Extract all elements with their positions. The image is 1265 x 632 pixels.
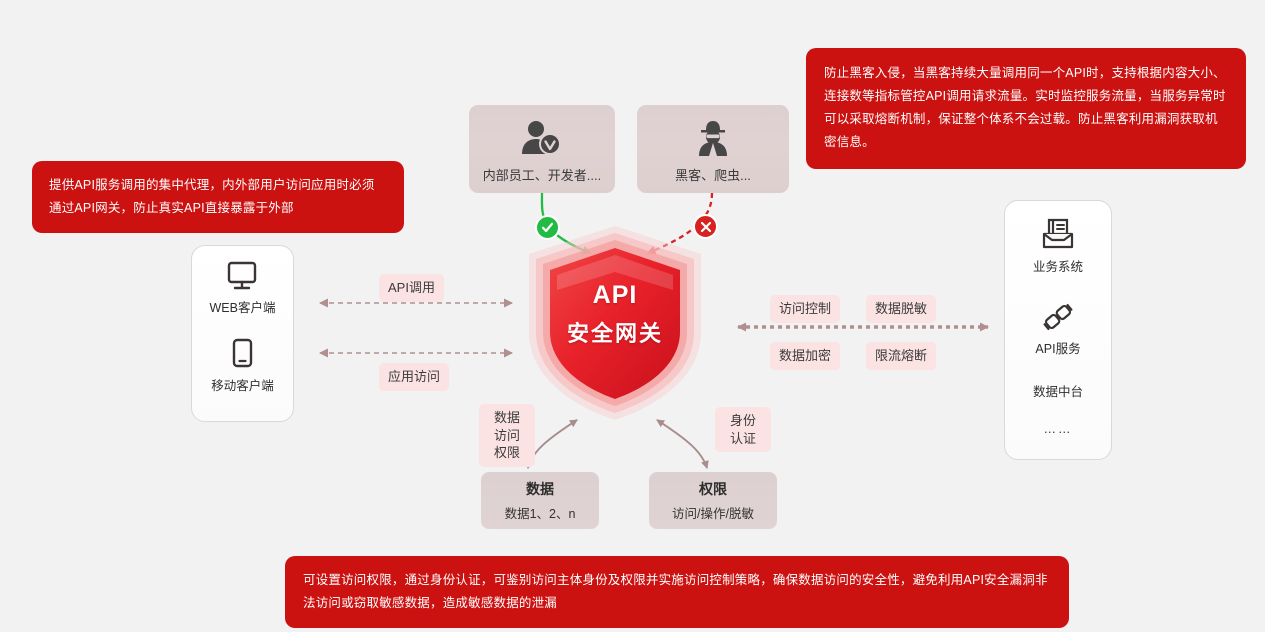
node-permission-title: 权限 [699,479,727,499]
tag-data-access-permission: 数据访问权限 [479,404,535,467]
callout-right: 防止黑客入侵，当黑客持续大量调用同一个API时，支持根据内容大小、连接数等指标管… [806,48,1246,169]
tag-access-control: 访问控制 [770,295,840,323]
tag-identity-authentication: 身份认证 [715,407,771,452]
mobile-phone-icon [227,338,257,370]
callout-right-text: 防止黑客入侵，当黑客持续大量调用同一个API时，支持根据内容大小、连接数等指标管… [824,62,1228,155]
node-data-sub: 数据1、2、n [505,503,576,522]
node-data[interactable]: 数据 数据1、2、n [481,472,599,529]
client-panel: WEB客户端 移动客户端 [191,245,294,422]
backend-panel: 业务系统 API服务 数据中台 …… [1004,200,1112,460]
backend-item-api[interactable]: API服务 [1035,301,1080,357]
client-label-web: WEB客户端 [210,297,276,316]
tag-data-desensitization: 数据脱敏 [866,295,936,323]
actor-card-internal[interactable]: 内部员工、开发者.... [469,105,615,193]
actor-card-hacker[interactable]: 黑客、爬虫... [637,105,789,193]
tag-rate-limit-circuit-breaker: 限流熔断 [866,342,936,370]
tag-api-call: API调用 [379,274,444,302]
hacker-icon [690,118,736,158]
backend-label-api: API服务 [1035,338,1080,357]
api-connector-icon [1040,301,1076,333]
backend-extra-midplatform: 数据中台 [1033,381,1083,400]
actor-label-hacker: 黑客、爬虫... [675,165,751,184]
tag-data-encryption: 数据加密 [770,342,840,370]
backend-item-business[interactable]: 业务系统 [1033,217,1083,275]
api-security-gateway-diagram: 提供API服务调用的集中代理，内外部用户访问应用时必须通过API网关，防止真实A… [0,0,1265,632]
node-permission[interactable]: 权限 访问/操作/脱敏 [649,472,777,529]
link-shield-permission [657,420,707,468]
user-verified-icon [519,118,565,158]
callout-bottom: 可设置访问权限，通过身份认证，可鉴别访问主体身份及权限并实施访问控制策略，确保数… [285,556,1069,628]
backend-extra-ellipsis: …… [1044,422,1073,436]
business-system-icon [1040,217,1076,251]
client-label-mobile: 移动客户端 [211,375,274,394]
node-permission-sub: 访问/操作/脱敏 [672,503,754,522]
node-data-title: 数据 [526,479,554,499]
backend-label-business: 业务系统 [1033,256,1083,275]
client-item-web[interactable]: WEB客户端 [210,260,276,316]
client-item-mobile[interactable]: 移动客户端 [211,338,274,394]
api-security-gateway-shield[interactable]: API 安全网关 [524,224,706,424]
callout-bottom-text: 可设置访问权限，通过身份认证，可鉴别访问主体身份及权限并实施访问控制策略，确保数… [303,569,1051,615]
callout-left: 提供API服务调用的集中代理，内外部用户访问应用时必须通过API网关，防止真实A… [32,161,404,233]
link-shield-data [528,420,577,468]
monitor-icon [225,260,259,292]
tag-app-access: 应用访问 [379,363,449,391]
actor-label-internal: 内部员工、开发者.... [483,165,601,184]
callout-left-text: 提供API服务调用的集中代理，内外部用户访问应用时必须通过API网关，防止真实A… [49,174,387,220]
